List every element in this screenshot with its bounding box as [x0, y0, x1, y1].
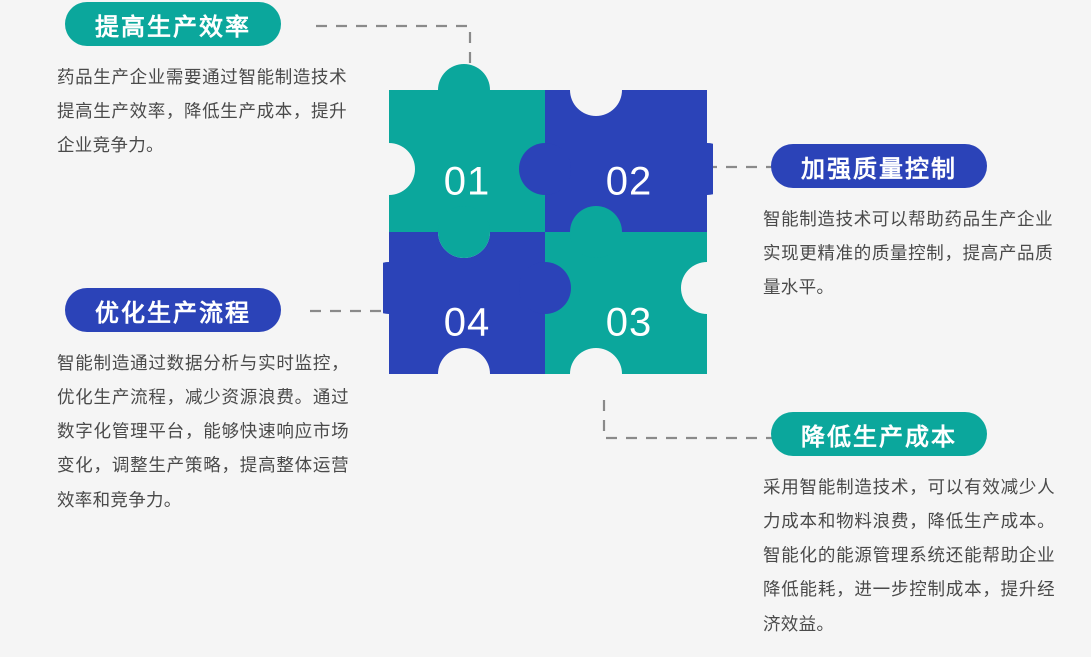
info-title-01[interactable]: 提高生产效率 [65, 2, 281, 46]
info-title-02[interactable]: 加强质量控制 [771, 144, 987, 188]
puzzle-graphic: 01 02 03 04 [383, 62, 713, 402]
info-block-04: 优化生产流程 智能制造通过数据分析与实时监控，优化生产流程，减少资源浪费。通过数… [57, 288, 349, 517]
puzzle-number-01: 01 [444, 160, 491, 204]
puzzle-number-03: 03 [606, 301, 653, 345]
info-description-04: 智能制造通过数据分析与实时监控，优化生产流程，减少资源浪费。通过数字化管理平台，… [57, 346, 349, 517]
info-description-02: 智能制造技术可以帮助药品生产企业实现更精准的质量控制，提高产品质量水平。 [763, 202, 1053, 304]
info-block-03: 降低生产成本 采用智能制造技术，可以有效减少人力成本和物料浪费，降低生产成本。智… [763, 412, 1055, 641]
puzzle-knob-01-bottom [438, 206, 490, 258]
info-block-02: 加强质量控制 智能制造技术可以帮助药品生产企业实现更精准的质量控制，提高产品质量… [763, 144, 1053, 304]
puzzle-knob-03-top [570, 206, 622, 258]
info-description-01: 药品生产企业需要通过智能制造技术提高生产效率，降低生产成本，提升企业竞争力。 [57, 60, 347, 162]
puzzle-number-02: 02 [606, 160, 653, 204]
puzzle-knob-04-right [519, 262, 571, 314]
infographic-canvas: 01 02 03 04 提高生产效率 药品生产企业需要通过智能制造技术提高生产效… [0, 0, 1091, 657]
info-title-04[interactable]: 优化生产流程 [65, 288, 281, 332]
connector-line-03 [604, 400, 774, 438]
info-description-03: 采用智能制造技术，可以有效减少人力成本和物料浪费，降低生产成本。智能化的能源管理… [763, 470, 1055, 641]
info-block-01: 提高生产效率 药品生产企业需要通过智能制造技术提高生产效率，降低生产成本，提升企… [57, 2, 347, 162]
puzzle-number-04: 04 [444, 301, 491, 345]
puzzle-knob-02-left [519, 143, 571, 195]
info-title-03[interactable]: 降低生产成本 [771, 412, 987, 456]
